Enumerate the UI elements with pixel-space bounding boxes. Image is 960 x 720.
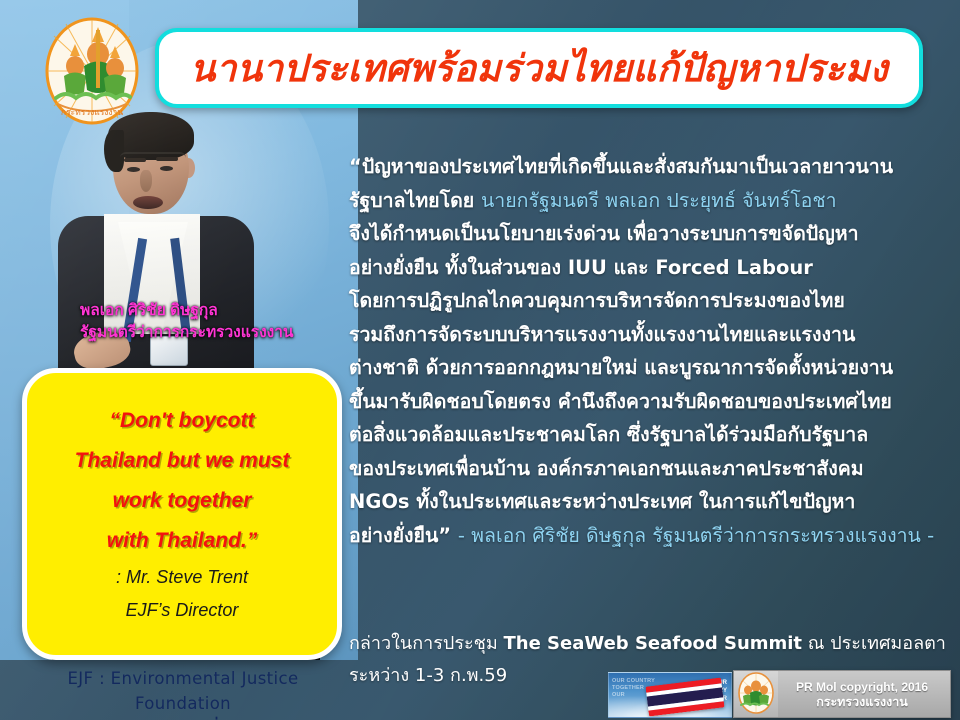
photo-mouth	[133, 196, 163, 209]
highlight-pm-name: นายกรัฐมนตรี พลเอก ประยุทธ์ จันทร์โอชา	[481, 189, 837, 212]
pr-mol-ministry-line: กระทรวงแรงงาน	[778, 695, 946, 709]
photo-glasses	[120, 152, 186, 167]
speaker-name: พลเอก ศิริชัย ดิษฐกุล	[80, 300, 370, 322]
pr-mol-copyright-plate: PR Mol copyright, 2016 กระทรวงแรงงาน	[733, 670, 951, 718]
speaker-name-caption: พลเอก ศิริชัย ดิษฐกุล รัฐมนตรีว่าการกระท…	[80, 300, 370, 344]
ejf-thai: มูลนิธิยุติธรรมและสิ่งแวดล้อม	[18, 716, 348, 720]
quote-author-title: EJF’s Director	[126, 594, 239, 627]
body-line: จึงได้กำหนดเป็นนโยบายเร่งด่วน เพื่อวางระ…	[349, 217, 949, 251]
slide-canvas: พลเอก ศิริชัย ดิษฐกุล รัฐมนตรีว่าการกระท…	[0, 0, 960, 720]
quote-author: : Mr. Steve Trent	[116, 561, 248, 594]
body-line: NGOs ทั้งในประเทศและระหว่างประเทศ ในการแ…	[349, 485, 949, 519]
highlight-minister-attribution: - พลเอก ศิริชัย ดิษฐกุล รัฐมนตรีว่าการกร…	[458, 524, 934, 547]
body-line: ต่อสิ่งแวดล้อมและประชาคมโลก ซึ่งรัฐบาลได…	[349, 418, 949, 452]
quote-line: work together	[113, 481, 252, 521]
ejf-english: EJF : Environmental Justice Foundation	[18, 666, 348, 716]
body-line: ขึ้นมารับผิดชอบโดยตรง คำนึงถึงความรับผิด…	[349, 385, 949, 419]
body-paragraph: “ปัญหาของประเทศไทยที่เกิดขึ้นและสั่งสมกั…	[349, 150, 949, 552]
body-line: ของประเทศเพื่อนบ้าน องค์กรภาคเอกชนและภาค…	[349, 452, 949, 486]
body-line: อย่างยั่งยืน” - พลเอก ศิริชัย ดิษฐกุล รั…	[349, 519, 949, 553]
pr-mol-seal-icon	[734, 671, 778, 717]
quote-line: Thailand but we must	[75, 441, 290, 481]
photo-hair-side	[104, 130, 124, 172]
thai-flag-banner: OUR COUNTRYTOGETHEROUR OURCOUNTRYTOGETHE…	[608, 672, 732, 718]
body-line: อย่างยั่งยืน ทั้งในส่วนของ IUU และ Force…	[349, 251, 949, 285]
conference-line1: กล่าวในการประชุม The SeaWeb Seafood Summ…	[349, 628, 949, 660]
pr-mol-copyright-line: PR Mol copyright, 2016	[778, 678, 946, 695]
body-line: โดยการปฏิรูปกลไกควบคุมการบริหารจัดการประ…	[349, 284, 949, 318]
ministry-emblem-icon: กระทรวงแรงงาน	[36, 14, 148, 132]
quote-line: “Don't boycott	[110, 401, 255, 441]
quote-callout-box: “Don't boycott Thailand but we must work…	[22, 368, 342, 660]
conference-name: The SeaWeb Seafood Summit	[503, 633, 802, 654]
pr-mol-year: 2016	[901, 680, 928, 694]
ejf-footnote: EJF : Environmental Justice Foundation ม…	[18, 666, 348, 720]
quote-line: with Thailand.”	[107, 521, 258, 561]
body-line: “ปัญหาของประเทศไทยที่เกิดขึ้นและสั่งสมกั…	[349, 150, 949, 184]
body-line: รวมถึงการจัดระบบบริหารแรงงานทั้งแรงงานไท…	[349, 318, 949, 352]
body-line: รัฐบาลไทยโดย นายกรัฐมนตรี พลเอก ประยุทธ์…	[349, 184, 949, 218]
headline-text: นานาประเทศพร้อมร่วมไทยแก้ปัญหาประมง	[190, 39, 888, 98]
emblem-caption: กระทรวงแรงงาน	[61, 108, 123, 118]
speaker-position: รัฐมนตรีว่าการกระทรวงแรงงาน	[80, 322, 370, 344]
photo-eye-left	[127, 167, 140, 172]
title-banner: นานาประเทศพร้อมร่วมไทยแก้ปัญหาประมง	[155, 28, 923, 108]
body-line: ต่างชาติ ด้วยการออกกฎหมายใหม่ และบูรณากา…	[349, 351, 949, 385]
photo-nose	[140, 170, 152, 192]
pr-mol-text: PR Mol copyright, 2016 กระทรวงแรงงาน	[778, 678, 950, 710]
